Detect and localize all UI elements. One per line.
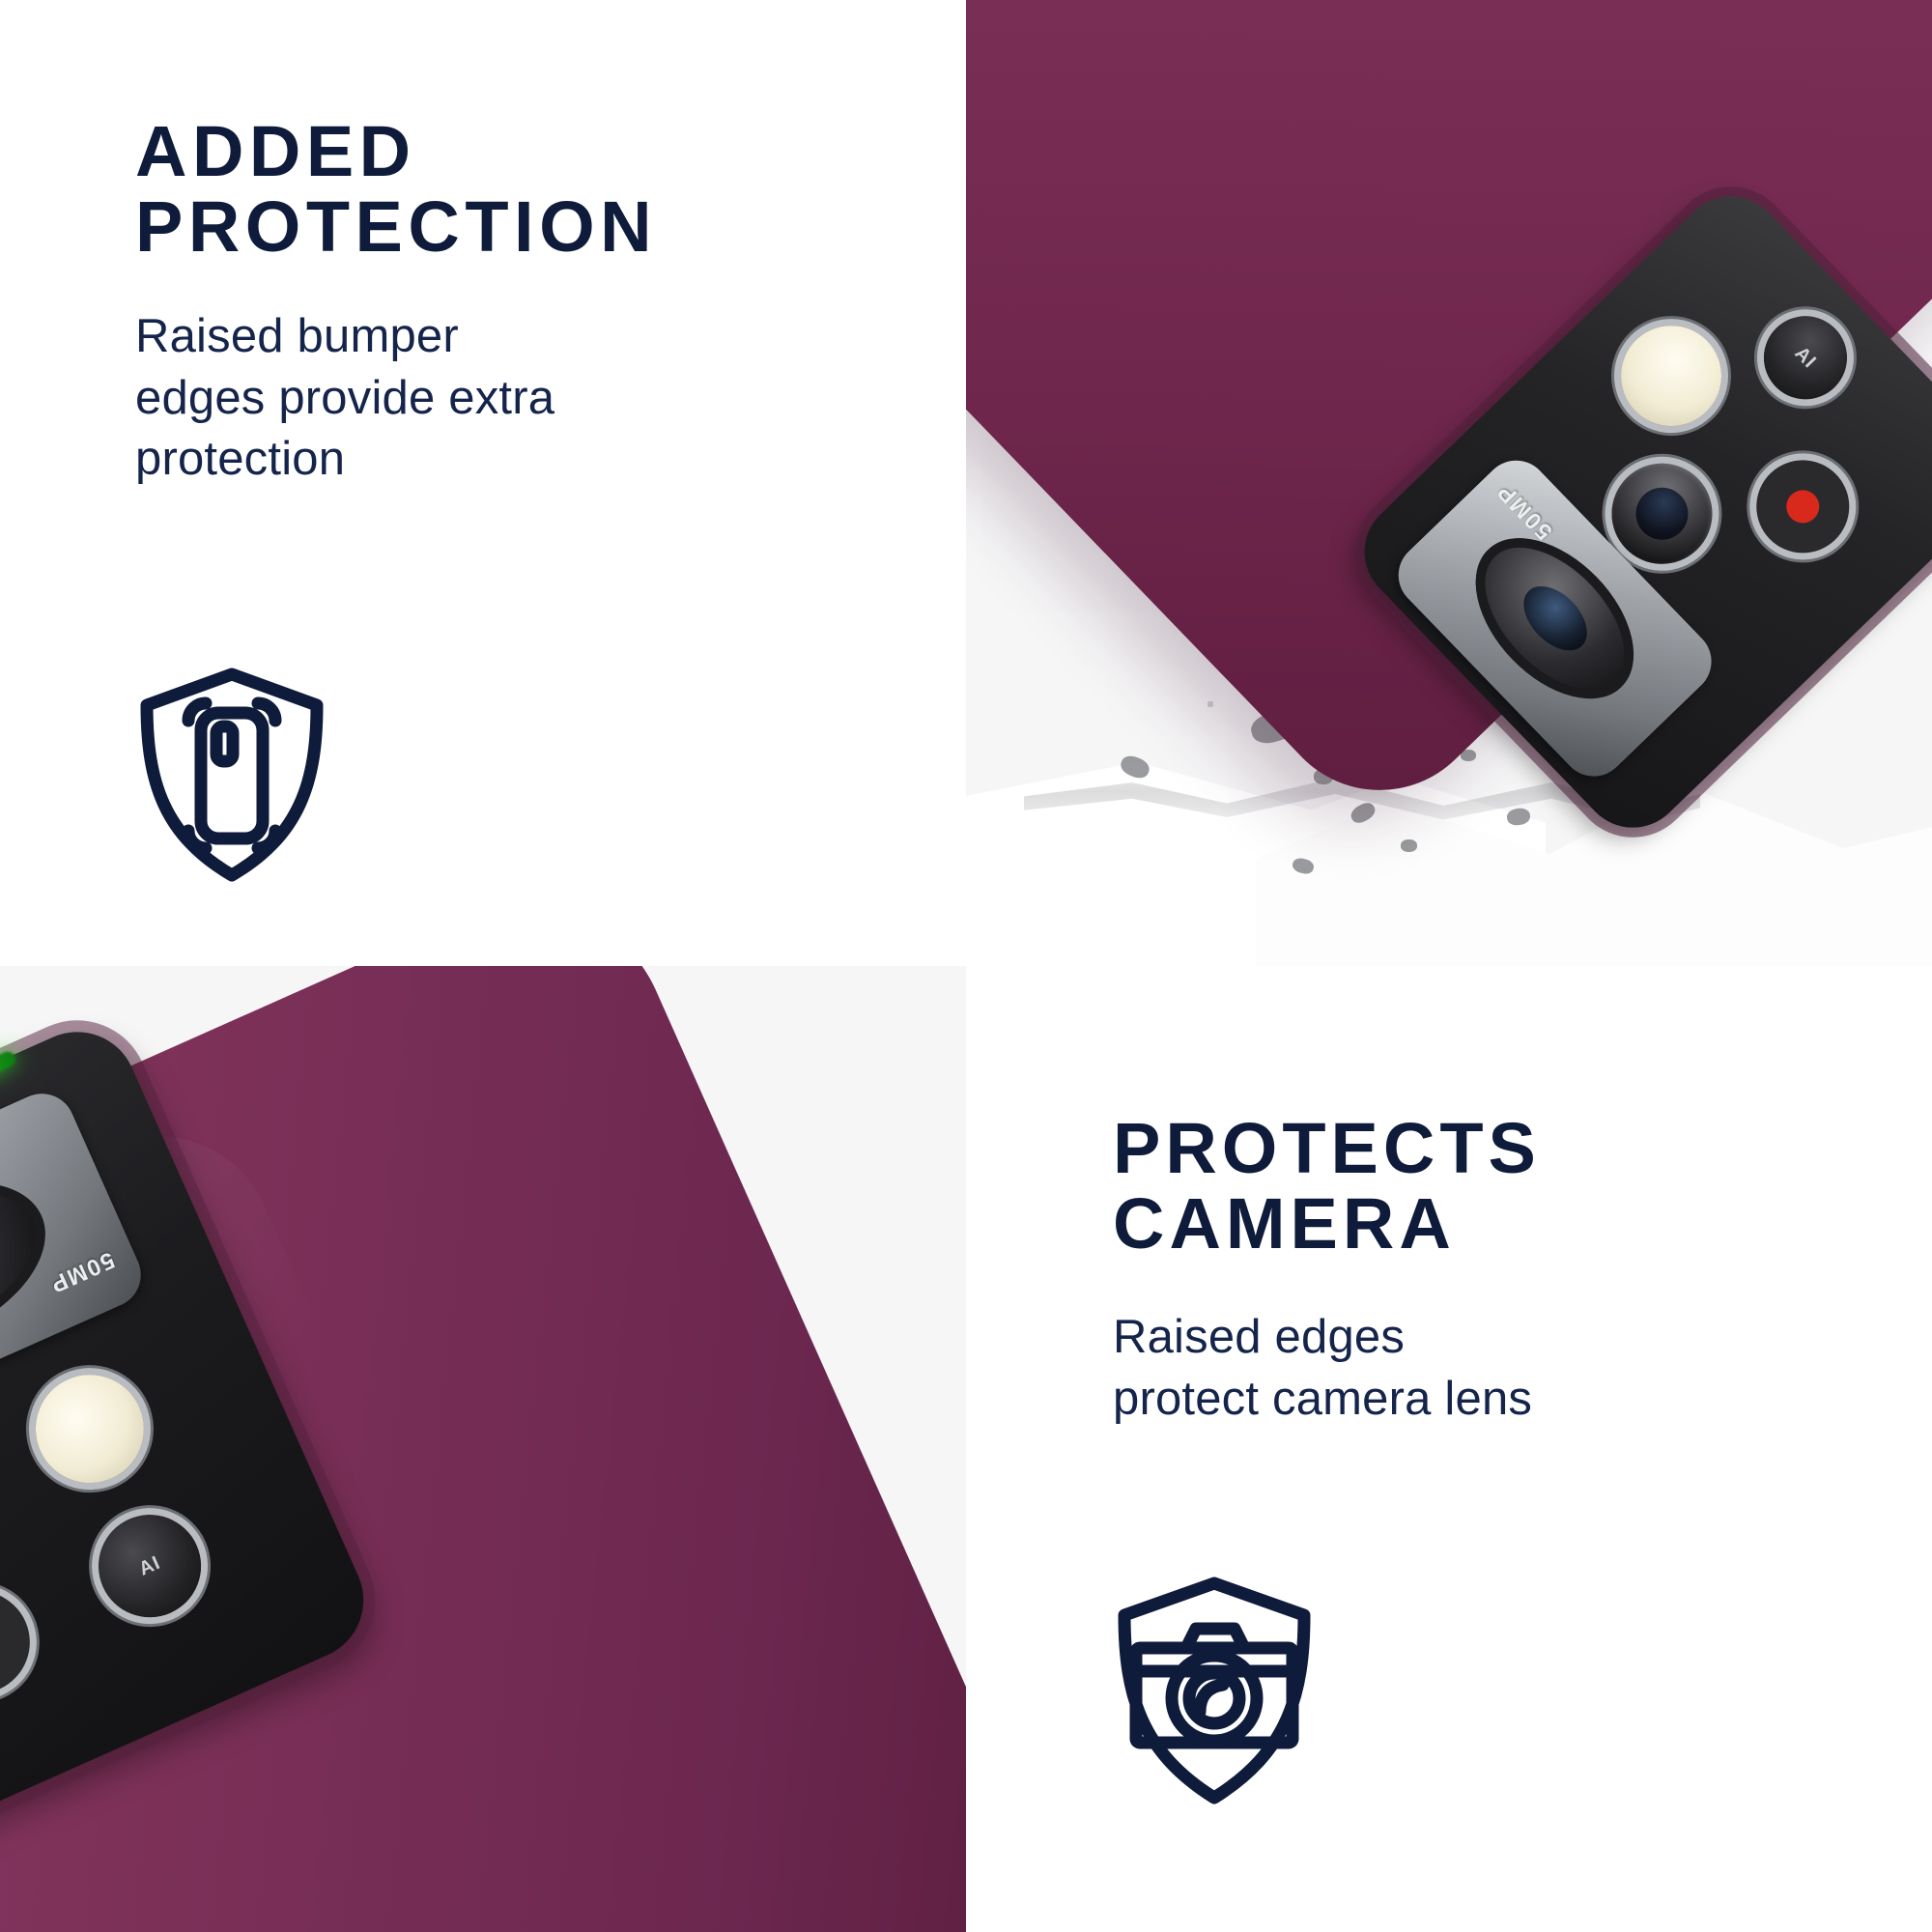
camera-50mp-label: 50MP [45, 1245, 119, 1297]
camera-flash [18, 1357, 161, 1500]
lens-ai-label: AI [1790, 342, 1821, 373]
camera-lens-ai: AI [82, 1498, 217, 1634]
camera-lens-ai: AI [1747, 298, 1864, 416]
shield-phone-icon [135, 667, 328, 884]
camera-sensor-dot [1737, 441, 1868, 573]
camera-flash [1600, 305, 1742, 447]
camera-50mp-label: 50MP [1492, 477, 1558, 545]
text-block-added-protection: ADDED PROTECTION Raised bumper edges pro… [135, 114, 869, 491]
photo-case-impact: AI 50MP [966, 0, 1932, 966]
text-block-protects-camera: PROTECTS CAMERA Raised edges protect cam… [1113, 1111, 1847, 1430]
headline-added-protection: ADDED PROTECTION [135, 114, 869, 266]
shield-camera-icon [1111, 1575, 1319, 1806]
panel-camera-closeup-photo: 50MP AI [0, 966, 966, 1932]
headline-protects-camera: PROTECTS CAMERA [1113, 1111, 1847, 1263]
panel-added-protection: ADDED PROTECTION Raised bumper edges pro… [0, 0, 966, 966]
feature-grid: ADDED PROTECTION Raised bumper edges pro… [0, 0, 1932, 1932]
body-added-protection: Raised bumper edges provide extra protec… [135, 306, 811, 491]
dust-speck [1207, 701, 1213, 707]
panel-impact-photo: AI 50MP [966, 0, 1932, 966]
debris-chunk [1401, 839, 1417, 852]
panel-protects-camera: PROTECTS CAMERA Raised edges protect cam… [966, 966, 1932, 1932]
camera-sensor-dot [0, 1575, 46, 1710]
body-protects-camera: Raised edges protect camera lens [1113, 1307, 1808, 1430]
lens-ai-label: AI [135, 1551, 163, 1580]
photo-case-camera-closeup: 50MP AI [0, 966, 966, 1932]
phone-case-body: 50MP AI [0, 966, 966, 1932]
